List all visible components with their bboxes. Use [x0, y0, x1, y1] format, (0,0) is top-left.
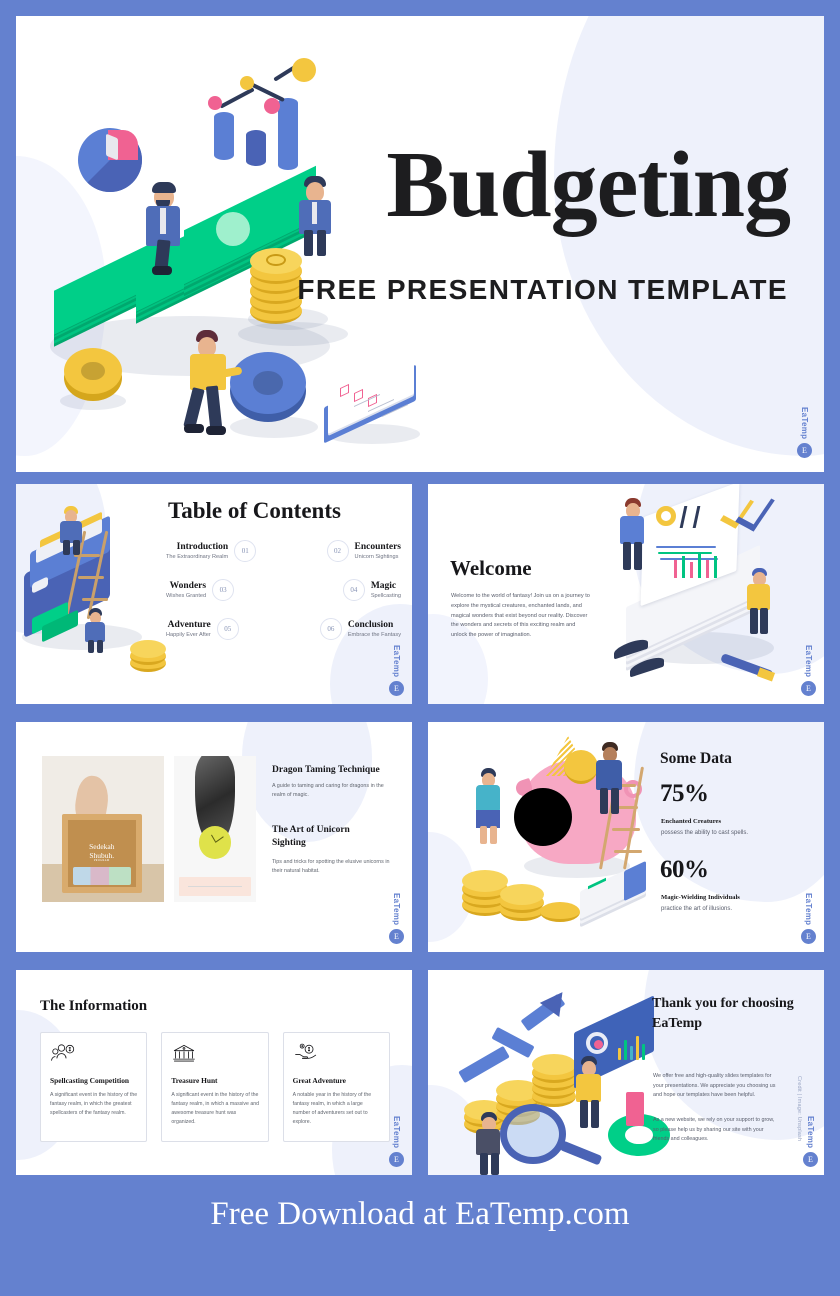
topic-heading-1: Dragon Taming Technique [272, 764, 402, 777]
page-title: Budgeting [386, 138, 790, 232]
slide-dragon-taming[interactable]: Sedekah Shubuh. PROGRAM Dragon Taming Te… [16, 722, 412, 952]
brand-logo[interactable]: EaTemp E [801, 893, 816, 944]
page-title: Some Data [660, 750, 732, 768]
card-body: A significant event in the history of th… [50, 1091, 138, 1118]
shadow [60, 392, 126, 410]
chart-bar [626, 1092, 644, 1126]
toc-heading: Encounters [355, 542, 401, 553]
chart-bar [690, 562, 693, 578]
toc-number: 01 [234, 540, 256, 562]
photo-caption: Sedekah Shubuh. PROGRAM [68, 843, 137, 863]
toc-number: 03 [212, 579, 234, 601]
gear-illustration [64, 348, 122, 394]
topic-body-2: Tips and tricks for spotting the elusive… [272, 858, 392, 876]
toc-number: 06 [320, 618, 342, 640]
person-illustration [472, 768, 508, 848]
brand-mark-icon: E [803, 1152, 818, 1167]
card-body: A significant event in the history of th… [171, 1091, 259, 1127]
people-money-icon [50, 1042, 76, 1064]
ladder-step [78, 576, 104, 579]
chart-bar [636, 1036, 639, 1060]
checklist-illustration [322, 374, 424, 432]
brand-mark-icon: E [389, 929, 404, 944]
chart-bar [698, 554, 701, 578]
photo-hand-clock [174, 756, 256, 902]
person-illustration [616, 498, 654, 580]
letter-o-graphic [656, 506, 676, 526]
hand-coin-icon [293, 1042, 319, 1064]
person-illustration [180, 330, 242, 446]
person-illustration [82, 608, 112, 654]
toc-item-06[interactable]: Conclusion Embrace the Fantasy 06 [284, 618, 402, 640]
brand-mark-icon: E [801, 929, 816, 944]
slide-welcome[interactable]: Welcome Welcome to the world of fantasy!… [428, 484, 824, 704]
toc-subtitle: The Extraordinary Realm [166, 554, 228, 560]
person-illustration [56, 506, 90, 556]
slide-table-of-contents[interactable]: Table of Contents Introduction The Extra… [16, 484, 412, 704]
thank-you-paragraph-1: We offer free and high-quality slides te… [653, 1072, 778, 1101]
information-card-list: Spellcasting Competition A significant e… [40, 1032, 390, 1142]
toc-subtitle: Happily Ever After [166, 632, 211, 638]
person-illustration [744, 568, 778, 642]
chart-bar [674, 560, 677, 578]
toc-heading: Magic [371, 581, 401, 592]
toc-list: Introduction The Extraordinary Realm 01 … [166, 540, 401, 640]
card-body: A notable year in the history of the fan… [293, 1091, 381, 1127]
brand-name: EaTemp [800, 407, 809, 439]
toc-subtitle: Embrace the Fantasy [348, 632, 401, 638]
toc-item-01[interactable]: Introduction The Extraordinary Realm 01 [166, 540, 284, 562]
toc-item-04[interactable]: Magic Spellcasting 04 [284, 579, 402, 601]
person-illustration [294, 176, 340, 262]
toc-item-05[interactable]: Adventure Happily Ever After 05 [166, 618, 284, 640]
person-illustration [140, 182, 200, 278]
page-title: Table of Contents [168, 498, 341, 524]
toc-number: 05 [217, 618, 239, 640]
topic-body-1: A guide to taming and caring for dragons… [272, 782, 392, 800]
image-credit: Credit | Image: Unsplash [796, 1076, 802, 1141]
slide-the-information[interactable]: The Information Spellcasting Competition… [16, 970, 412, 1175]
stat-heading-1: Enchanted Creatures [661, 818, 721, 825]
brand-name: EaTemp [392, 893, 401, 925]
welcome-body: Welcome to the world of fantasy! Join us… [451, 592, 591, 641]
brand-logo[interactable]: EaTemp E [389, 893, 404, 944]
brand-mark-icon: E [797, 443, 812, 458]
money-seal [216, 212, 250, 246]
chart-bar [624, 1040, 627, 1060]
sheet-line [658, 552, 712, 554]
card-heading: Great Adventure [293, 1076, 381, 1087]
brand-logo[interactable]: EaTemp E [389, 1116, 404, 1167]
page-subtitle: FREE PRESENTATION TEMPLATE [297, 274, 788, 306]
slide-cover[interactable]: Budgeting FREE PRESENTATION TEMPLATE EaT… [16, 16, 824, 472]
person-illustration [472, 1112, 508, 1175]
information-card[interactable]: Great Adventure A notable year in the hi… [283, 1032, 390, 1142]
donut-center [594, 1040, 603, 1049]
chart-bar [642, 1044, 645, 1060]
brand-name: EaTemp [392, 645, 401, 677]
sheet-line [656, 546, 716, 548]
toc-subtitle: Unicorn Sightings [355, 554, 401, 560]
card-heading: Treasure Hunt [171, 1076, 259, 1087]
ladder-step [82, 598, 108, 601]
stat-body-2: practice the art of illusions. [661, 906, 732, 912]
footer-download-text[interactable]: Free Download at EaTemp.com [0, 1196, 840, 1233]
brand-name: EaTemp [392, 1116, 401, 1148]
stat-value-2: 60% [660, 856, 709, 884]
brand-name: EaTemp [804, 645, 813, 677]
brand-mark-icon: E [389, 1152, 404, 1167]
page-title: The Information [40, 998, 147, 1015]
card-heading: Spellcasting Competition [50, 1076, 138, 1087]
slide-some-data[interactable]: Some Data 75% Enchanted Creatures posses… [428, 722, 824, 952]
brand-mark-icon: E [389, 681, 404, 696]
pie-chart-illustration [78, 128, 142, 192]
stat-heading-2: Magic-Wielding Individuals [661, 894, 740, 901]
toc-number: 02 [327, 540, 349, 562]
shadow [230, 416, 318, 438]
photo-donation-box: Sedekah Shubuh. PROGRAM [42, 756, 164, 902]
stat-body-1: possess the ability to cast spells. [661, 830, 748, 836]
toc-heading: Conclusion [348, 620, 401, 631]
magnifier-illustration [500, 1104, 566, 1164]
pencil-band [757, 668, 775, 682]
coin [540, 902, 580, 922]
magnifier-handle [560, 1140, 603, 1165]
clock-graphic [199, 826, 232, 859]
bank-icon [171, 1042, 197, 1064]
photo-overlay-disc [514, 788, 572, 846]
toc-subtitle: Wishes Granted [166, 593, 206, 599]
brand-name: EaTemp [804, 893, 813, 925]
toc-item-02[interactable]: Encounters Unicorn Sightings 02 [284, 540, 402, 562]
toc-item-03[interactable]: Wonders Wishes Granted 03 [166, 579, 284, 601]
toc-subtitle: Spellcasting [371, 593, 401, 599]
person-illustration [572, 1056, 608, 1136]
thank-you-paragraph-2: As a new website, we rely on your suppor… [653, 1116, 778, 1145]
stat-value-1: 75% [660, 780, 709, 808]
bar-line-chart-illustration [196, 50, 326, 170]
brand-logo[interactable]: EaTemp E [803, 1116, 818, 1167]
chart-bar [630, 1046, 633, 1060]
chart-bar [714, 556, 717, 578]
toc-heading: Wonders [166, 581, 206, 592]
brand-name: EaTemp [806, 1116, 815, 1148]
topic-heading-2: The Art of Unicorn Sighting [272, 824, 382, 850]
donation-box: Sedekah Shubuh. PROGRAM [62, 814, 143, 893]
information-card[interactable]: Treasure Hunt A significant event in the… [161, 1032, 268, 1142]
page-title: Thank you for choosing EaTemp [652, 994, 802, 1035]
page-title: Welcome [450, 556, 532, 581]
slide-thank-you[interactable]: Thank you for choosing EaTemp We offer f… [428, 970, 824, 1175]
coin-stack [130, 636, 170, 670]
brand-logo[interactable]: EaTemp E [801, 645, 816, 696]
toc-heading: Adventure [166, 620, 211, 631]
information-card[interactable]: Spellcasting Competition A significant e… [40, 1032, 147, 1142]
caption-strip [179, 877, 251, 896]
toc-heading: Introduction [166, 542, 228, 553]
chart-bar [682, 556, 685, 578]
sheet-line [660, 558, 718, 560]
person-illustration [592, 742, 632, 822]
shadow [238, 322, 348, 346]
brand-logo[interactable]: EaTemp E [797, 407, 812, 458]
brand-logo[interactable]: EaTemp E [389, 645, 404, 696]
brand-mark-icon: E [801, 681, 816, 696]
chart-bar [706, 560, 709, 578]
toc-number: 04 [343, 579, 365, 601]
chart-bar [618, 1048, 621, 1060]
